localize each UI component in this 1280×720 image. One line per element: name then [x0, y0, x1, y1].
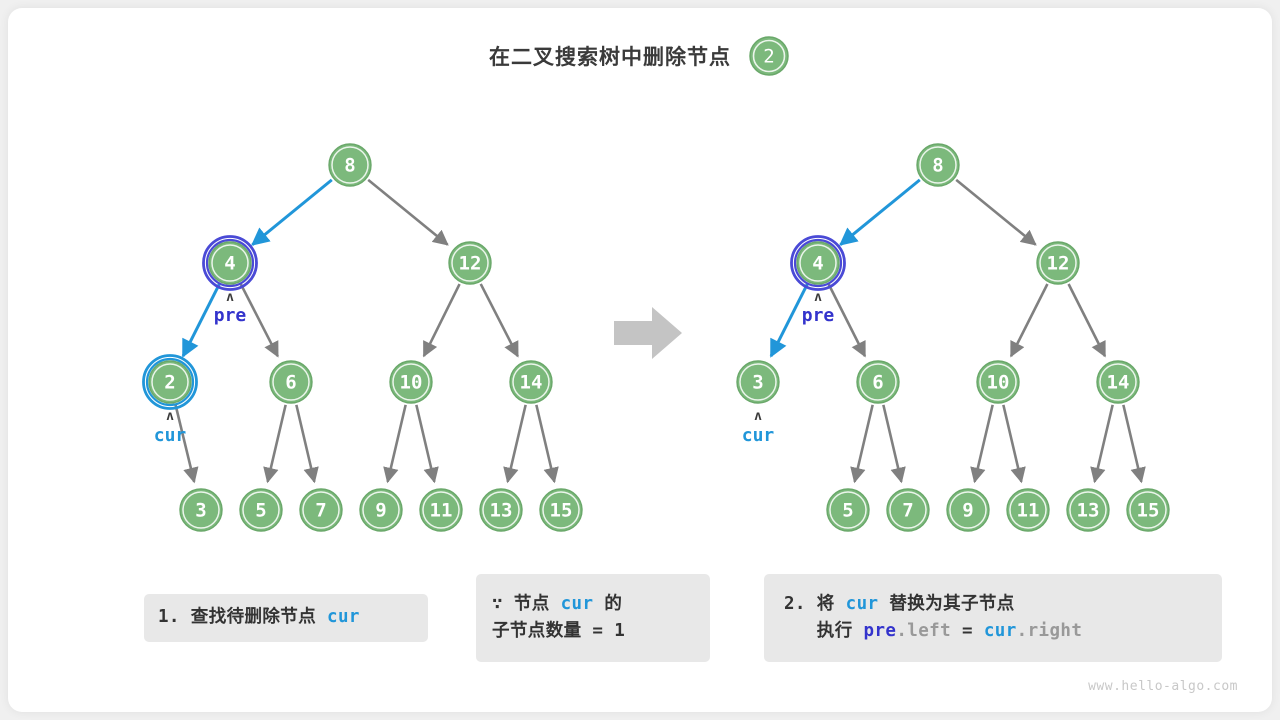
node-value: 9	[962, 500, 973, 522]
tree-edge	[252, 180, 331, 245]
caption-token-cur: cur	[846, 594, 879, 614]
caption-token-cur: cur	[327, 607, 360, 627]
transition-arrow-icon	[612, 304, 684, 362]
node-value: 4	[812, 253, 823, 275]
tree-edge	[424, 284, 460, 356]
tree-node[interactable]: 14	[510, 361, 552, 403]
pointer-label-pre: pre	[214, 305, 247, 326]
tree-edge	[296, 405, 314, 482]
tree-edge	[883, 405, 901, 482]
tree-edge	[368, 180, 447, 245]
caption-text: 2. 将	[784, 594, 846, 614]
node-value: 7	[315, 500, 326, 522]
pointer-label-cur: cur	[154, 425, 187, 446]
tree-node[interactable]: 15	[1127, 489, 1169, 531]
tree-node[interactable]: 2	[144, 356, 197, 409]
tree-node[interactable]: 8	[917, 144, 959, 186]
caption-token-attr: .left	[896, 621, 951, 641]
node-value: 14	[1107, 372, 1130, 394]
tree-node[interactable]: 9	[360, 489, 402, 531]
caption-text: 替换为其子节点	[878, 594, 1014, 614]
caption-text: =	[951, 621, 984, 641]
watermark: www.hello-algo.com	[1088, 679, 1238, 694]
caption-token-cur: cur	[984, 621, 1017, 641]
node-value: 4	[224, 253, 235, 275]
node-value: 8	[932, 155, 943, 177]
node-value: 12	[459, 253, 482, 275]
tree-node[interactable]: 12	[1037, 242, 1079, 284]
node-value: 13	[490, 500, 513, 522]
tree-edge	[855, 405, 873, 482]
node-value: 12	[1047, 253, 1070, 275]
tree-edge	[840, 180, 919, 245]
tree-node[interactable]: 8	[329, 144, 371, 186]
tree-node[interactable]: 14	[1097, 361, 1139, 403]
node-value: 11	[430, 500, 453, 522]
node-value: 10	[400, 372, 423, 394]
caption-step-1-line: 1. 查找待删除节点 cur	[158, 604, 414, 631]
caption-step-2: 2. 将 cur 替换为其子节点 执行 pre.left = cur.right	[764, 574, 1222, 662]
tree-edge	[1123, 405, 1141, 482]
caption-reason-line: 子节点数量 = 1	[492, 618, 694, 645]
pointer-label-pre: pre	[802, 305, 835, 326]
caption-text: 执行	[784, 621, 864, 641]
tree-edge	[508, 405, 526, 482]
node-value: 15	[1137, 500, 1160, 522]
tree-edge	[241, 284, 278, 356]
node-value: 2	[164, 372, 175, 394]
node-value: 3	[195, 500, 206, 522]
tree-edge	[268, 405, 286, 482]
node-value: 5	[255, 500, 266, 522]
tree-node[interactable]: 10	[390, 361, 432, 403]
caption-text: 1. 查找待删除节点	[158, 607, 327, 627]
tree-edge	[1003, 405, 1021, 482]
node-value: 8	[344, 155, 355, 177]
tree-node[interactable]: 11	[1007, 489, 1049, 531]
tree-node[interactable]: 15	[540, 489, 582, 531]
caption-token-cur: cur	[561, 594, 594, 614]
node-value: 5	[842, 500, 853, 522]
tree-edge	[1011, 284, 1047, 356]
node-value: 14	[520, 372, 543, 394]
tree-node[interactable]: 3	[737, 361, 779, 403]
caption-token-attr: .right	[1017, 621, 1083, 641]
tree-node[interactable]: 6	[270, 361, 312, 403]
caption-step-1: 1. 查找待删除节点 cur	[144, 594, 428, 642]
pointer-caret-icon: ʌ	[226, 290, 234, 305]
node-value: 9	[375, 500, 386, 522]
node-value: 7	[902, 500, 913, 522]
tree-node[interactable]: 4	[792, 237, 845, 290]
caption-step-2-line: 执行 pre.left = cur.right	[784, 618, 1202, 645]
tree-node[interactable]: 13	[480, 489, 522, 531]
tree-edge	[1095, 405, 1113, 482]
tree-node[interactable]: 6	[857, 361, 899, 403]
caption-reason: ∵ 节点 cur 的子节点数量 = 1	[476, 574, 710, 662]
caption-text: 的	[593, 594, 622, 614]
node-value: 6	[285, 372, 296, 394]
node-value: 11	[1017, 500, 1040, 522]
tree-node[interactable]: 9	[947, 489, 989, 531]
tree-node[interactable]: 7	[887, 489, 929, 531]
pointer-caret-icon: ʌ	[814, 290, 822, 305]
node-value: 6	[872, 372, 883, 394]
tree-edge	[956, 180, 1035, 245]
tree-node[interactable]: 13	[1067, 489, 1109, 531]
node-value: 3	[752, 372, 763, 394]
tree-edge	[1069, 284, 1105, 356]
caption-reason-line: ∵ 节点 cur 的	[492, 591, 694, 618]
caption-text: 子节点数量 = 1	[492, 621, 625, 641]
tree-node[interactable]: 12	[449, 242, 491, 284]
caption-step-2-line: 2. 将 cur 替换为其子节点	[784, 591, 1202, 618]
diagram-card: 在二叉搜索树中删除节点 2 ʌpreʌcurʌpreʌcur 841226101…	[8, 8, 1272, 712]
node-value: 15	[550, 500, 573, 522]
tree-node[interactable]: 11	[420, 489, 462, 531]
pointer-caret-icon: ʌ	[754, 409, 762, 424]
tree-edge	[975, 405, 993, 482]
pointer-caret-icon: ʌ	[166, 409, 174, 424]
pointer-label-cur: cur	[742, 425, 775, 446]
caption-token-pre: pre	[864, 621, 897, 641]
node-value: 10	[987, 372, 1010, 394]
tree-node[interactable]: 7	[300, 489, 342, 531]
node-value: 13	[1077, 500, 1100, 522]
tree-edge	[536, 405, 554, 482]
tree-edge	[481, 284, 518, 356]
tree-edge	[416, 405, 434, 482]
tree-node[interactable]: 10	[977, 361, 1019, 403]
tree-node[interactable]: 3	[180, 489, 222, 531]
tree-node[interactable]: 5	[240, 489, 282, 531]
tree-node[interactable]: 4	[204, 237, 257, 290]
tree-edge	[388, 405, 406, 482]
caption-text: ∵ 节点	[492, 594, 561, 614]
tree-node[interactable]: 5	[827, 489, 869, 531]
